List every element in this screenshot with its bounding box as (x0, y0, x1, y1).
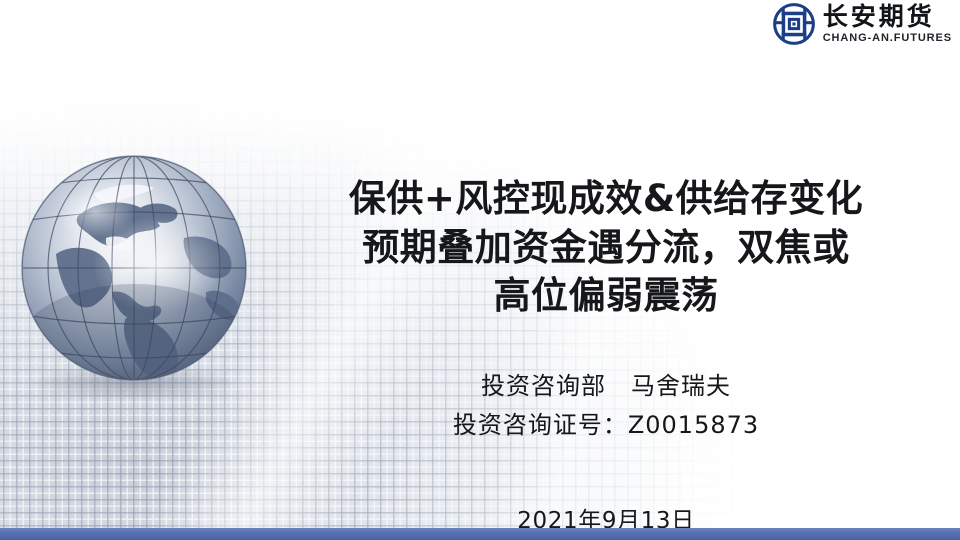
globe-icon (8, 142, 260, 394)
slide-title-line-3: 高位偏弱震荡 (270, 272, 942, 321)
presenter-license-number: 投资咨询证号：Z0015873 (270, 406, 942, 445)
bottom-accent-bar-fill (0, 528, 960, 540)
chang-an-futures-emblem-icon (772, 2, 816, 46)
globe-shadow (34, 368, 234, 398)
title-slide: 长安期货 CHANG-AN.FUTURES 保供+风控现成效&供给存变化 预期叠… (0, 0, 960, 540)
slide-title-line-1: 保供+风控现成效&供给存变化 (270, 175, 942, 224)
company-logo: 长安期货 CHANG-AN.FUTURES (772, 2, 952, 46)
presenter-info: 投资咨询部 马舍瑞夫 投资咨询证号：Z0015873 (270, 367, 942, 445)
slide-content: 保供+风控现成效&供给存变化 预期叠加资金遇分流，双焦或 高位偏弱震荡 投资咨询… (270, 150, 942, 535)
logo-company-name-en: CHANG-AN.FUTURES (823, 33, 952, 44)
slide-title-line-2: 预期叠加资金遇分流，双焦或 (270, 224, 942, 273)
presenter-department-and-name: 投资咨询部 马舍瑞夫 (270, 367, 942, 406)
bottom-accent-bar (0, 528, 960, 540)
globe-graphic (8, 142, 260, 394)
slide-title: 保供+风控现成效&供给存变化 预期叠加资金遇分流，双焦或 高位偏弱震荡 (270, 175, 942, 321)
logo-wordmark: 长安期货 CHANG-AN.FUTURES (823, 4, 952, 44)
logo-company-name-cn: 长安期货 (823, 4, 935, 29)
